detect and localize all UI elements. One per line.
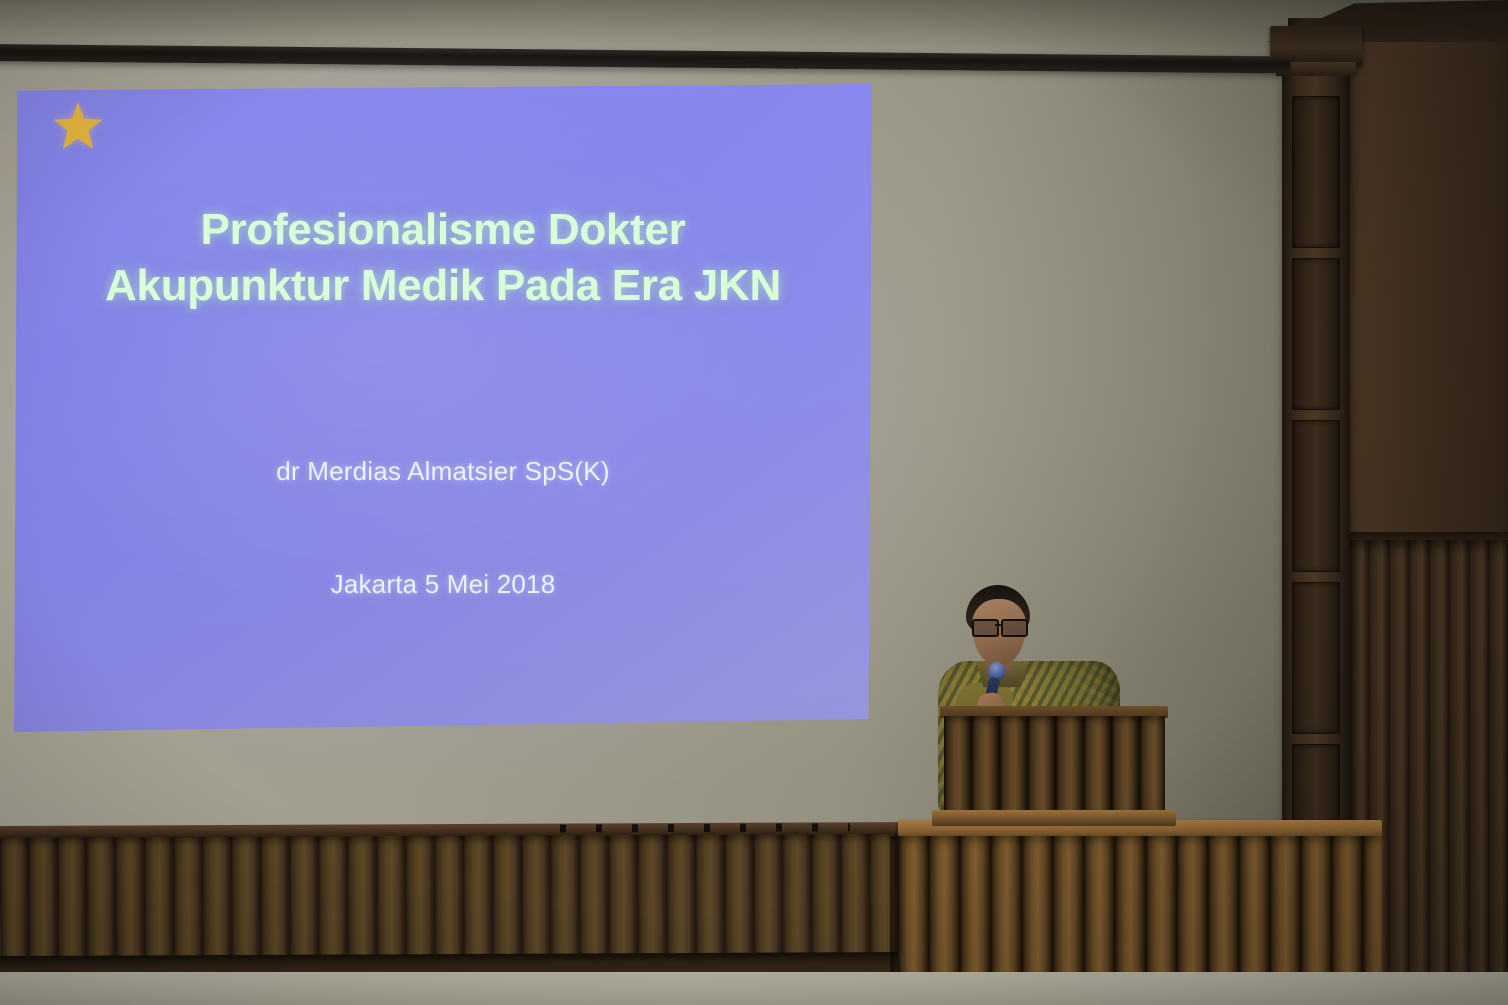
projection-screen[interactable]: Profesionalisme Dokter Akupunktur Medik …	[14, 84, 872, 732]
wall-wainscot-slats	[0, 834, 906, 962]
lectern-base-molding	[932, 810, 1176, 826]
slide-title-line-2: Akupunktur Medik Pada Era JKN	[42, 258, 844, 314]
presentation-room-photo: Profesionalisme Dokter Akupunktur Medik …	[0, 0, 1508, 1005]
floor	[0, 972, 1508, 1005]
star-icon	[52, 100, 104, 152]
eyeglass-lens-left	[972, 619, 999, 637]
eyeglasses-icon	[970, 619, 1028, 634]
slide-place-date: Jakarta 5 Mei 2018	[14, 569, 872, 600]
eyeglass-lens-right	[1001, 619, 1028, 637]
slide-title: Profesionalisme Dokter Akupunktur Medik …	[14, 202, 872, 315]
slide-author: dr Merdias Almatsier SpS(K)	[14, 456, 872, 487]
pillar-recess-panel	[1292, 258, 1340, 410]
projection-grain	[14, 84, 872, 732]
wainscot-rail-clips	[530, 823, 850, 832]
pillar-recess-panel	[1292, 582, 1340, 734]
pillar-recess-panel	[1292, 96, 1340, 248]
pillar-recess-panel	[1292, 420, 1340, 572]
lectern-front-slats	[944, 716, 1165, 814]
slide-title-line-1: Profesionalisme Dokter	[42, 202, 844, 258]
